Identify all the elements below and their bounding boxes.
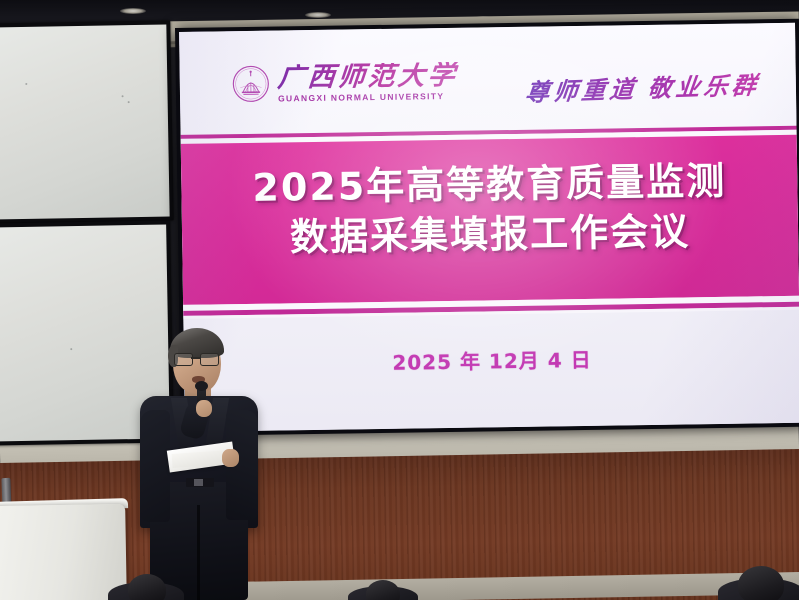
slide-title-line-2: 数据采集填报工作会议 (182, 205, 799, 264)
lecture-hall-photo: 广西师范大学 GUANGXI NORMAL UNIVERSITY 尊师重道 敬业… (0, 0, 799, 600)
audience-head (366, 580, 400, 600)
ceiling-light-icon (120, 8, 146, 14)
university-name-en: GUANGXI NORMAL UNIVERSITY (278, 92, 458, 103)
glasses-lens-left (174, 353, 193, 366)
university-name-cn: 广西师范大学 (277, 62, 459, 92)
projection-screen-frame: 广西师范大学 GUANGXI NORMAL UNIVERSITY 尊师重道 敬业… (175, 19, 799, 436)
speaker-arm-left (140, 410, 170, 522)
university-logo: 广西师范大学 GUANGXI NORMAL UNIVERSITY (232, 62, 459, 104)
glasses-lens-right (200, 353, 219, 366)
presentation-slide: 广西师范大学 GUANGXI NORMAL UNIVERSITY 尊师重道 敬业… (179, 23, 799, 432)
audience-head (128, 574, 166, 600)
lectern (0, 504, 127, 600)
university-motto: 尊师重道 敬业乐群 (524, 65, 762, 108)
slide-date: 2025 年 12月 4 日 (184, 341, 799, 379)
audience-head (738, 566, 784, 600)
whiteboard-upper-left (0, 20, 174, 223)
university-seal-icon (232, 65, 271, 104)
whiteboard-surface (0, 24, 170, 219)
slide-header: 广西师范大学 GUANGXI NORMAL UNIVERSITY 尊师重道 敬业… (179, 23, 796, 136)
title-band: 2025年高等教育质量监测 数据采集填报工作会议 (181, 126, 799, 319)
slide-title-line-1: 2025年高等教育质量监测 (181, 155, 798, 214)
whiteboard-mark (70, 348, 72, 350)
whiteboard-mark (128, 101, 130, 103)
speaker-leg-seam (197, 505, 200, 600)
slide-title: 2025年高等教育质量监测 数据采集填报工作会议 (181, 155, 798, 264)
glasses-bridge (191, 357, 200, 359)
speaker-glasses-icon (173, 353, 221, 365)
title-band-fill: 2025年高等教育质量监测 数据采集填报工作会议 (181, 135, 799, 305)
whiteboard-mark (122, 95, 124, 97)
speaker-belt-buckle (194, 479, 203, 486)
speaker-hand-with-paper (222, 449, 239, 467)
projection-screen: 广西师范大学 GUANGXI NORMAL UNIVERSITY 尊师重道 敬业… (179, 23, 799, 432)
ceiling-light-icon (305, 12, 331, 18)
university-name-block: 广西师范大学 GUANGXI NORMAL UNIVERSITY (278, 62, 459, 103)
whiteboard-mark (25, 83, 27, 85)
speaker-hand-with-mic (196, 400, 212, 417)
microphone-head-icon (195, 381, 208, 391)
